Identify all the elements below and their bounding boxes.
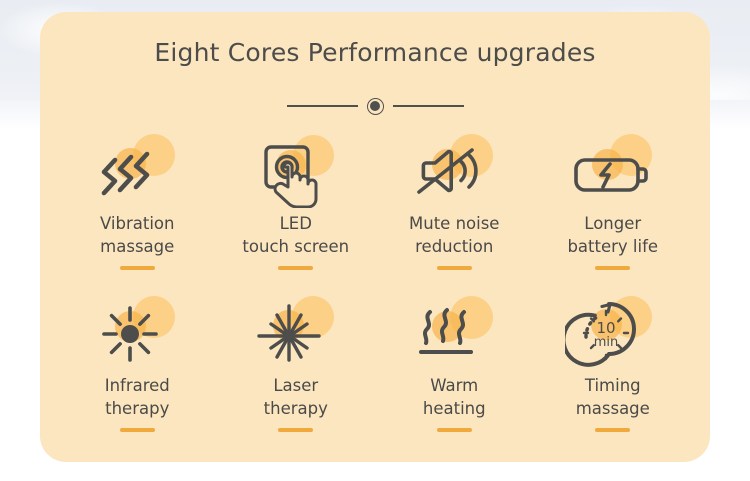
icon-area — [248, 134, 344, 208]
feature-label: Warm heating — [423, 374, 486, 420]
stopwatch-timer-icon: 10 min — [565, 296, 661, 370]
accent-underline — [278, 266, 313, 270]
accent-underline — [595, 266, 630, 270]
feature-label: LED touch screen — [242, 212, 349, 258]
laser-burst-icon — [248, 296, 344, 370]
timer-unit: min — [593, 335, 618, 350]
speaker-muted-icon — [406, 134, 502, 208]
accent-underline — [278, 428, 313, 432]
divider-dot-core — [370, 101, 380, 111]
icon-area — [565, 134, 661, 208]
page-title: Eight Cores Performance upgrades — [40, 38, 710, 67]
accent-underline — [437, 266, 472, 270]
feature-item-laser-therapy: Laser therapy — [217, 292, 376, 454]
feature-label: Mute noise reduction — [409, 212, 499, 258]
section-divider — [40, 97, 710, 115]
feature-item-timing-massage: 10 min Timing massage — [534, 292, 693, 454]
feature-card: Eight Cores Performance upgrades — [40, 12, 710, 462]
promo-banner: Eight Cores Performance upgrades — [0, 0, 750, 481]
vibration-waves-icon — [89, 134, 185, 208]
feature-label: Laser therapy — [264, 374, 328, 420]
divider-line-right — [393, 105, 464, 107]
divider-dot-ring — [367, 98, 384, 115]
accent-underline — [120, 266, 155, 270]
feature-item-warm-heating: Warm heating — [375, 292, 534, 454]
feature-item-mute-noise-reduction: Mute noise reduction — [375, 130, 534, 292]
accent-underline — [437, 428, 472, 432]
feature-item-vibration-massage: Vibration massage — [58, 130, 217, 292]
feature-item-longer-battery-life: Longer battery life — [534, 130, 693, 292]
heat-waves-icon — [406, 296, 502, 370]
accent-underline — [595, 428, 630, 432]
feature-grid: Vibration massage — [58, 130, 692, 454]
touch-screen-hand-icon — [248, 134, 344, 208]
icon-area — [406, 134, 502, 208]
icon-area — [89, 296, 185, 370]
feature-label: Infrared therapy — [105, 374, 170, 420]
feature-label: Longer battery life — [567, 212, 658, 258]
icon-area — [89, 134, 185, 208]
accent-underline — [120, 428, 155, 432]
feature-item-led-touch-screen: LED touch screen — [217, 130, 376, 292]
feature-label: Vibration massage — [100, 212, 174, 258]
icon-area: 10 min — [565, 296, 661, 370]
feature-label: Timing massage — [576, 374, 650, 420]
icon-area — [406, 296, 502, 370]
icon-area — [248, 296, 344, 370]
sun-rays-icon — [89, 296, 185, 370]
divider-line-left — [287, 105, 358, 107]
feature-item-infrared-therapy: Infrared therapy — [58, 292, 217, 454]
battery-charging-icon — [565, 134, 661, 208]
